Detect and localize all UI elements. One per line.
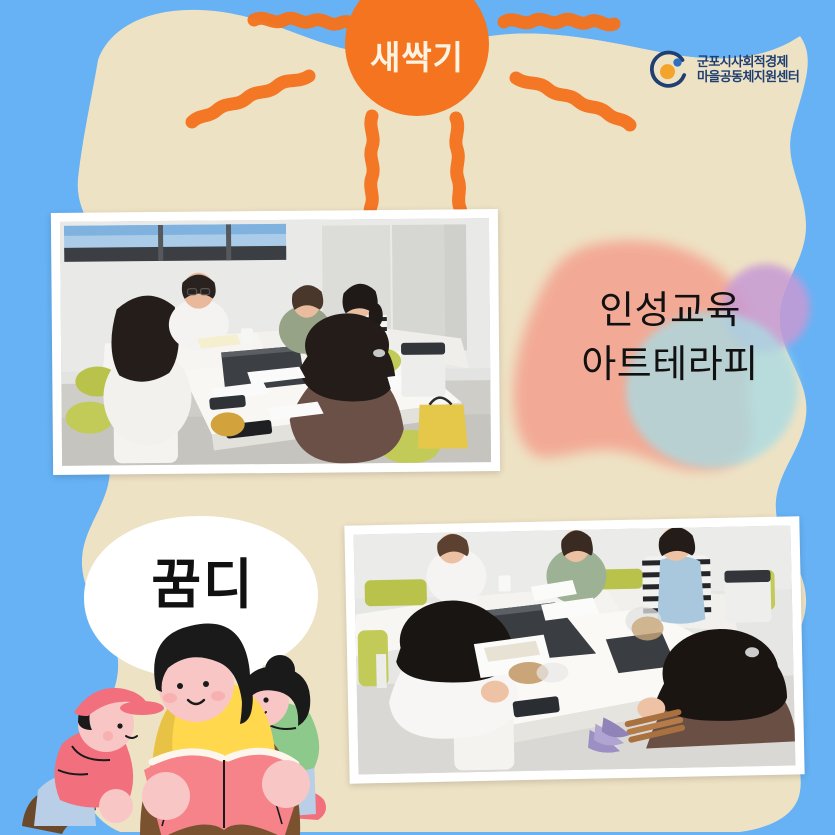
logo-circle-icon bbox=[650, 50, 690, 90]
logo-wordmark: 군포시사회적경제 마을공동체지원센터 bbox=[697, 55, 799, 86]
logo-line-1: 군포시사회적경제 bbox=[697, 55, 799, 70]
illustration-reading-group bbox=[0, 0, 835, 835]
logo-line-2: 마을공동체지원센터 bbox=[697, 70, 799, 85]
poster-canvas: 새싹기 군포시사회적경제 마을공동체지원센터 bbox=[0, 0, 835, 835]
organization-logo: 군포시사회적경제 마을공동체지원센터 bbox=[650, 50, 799, 90]
